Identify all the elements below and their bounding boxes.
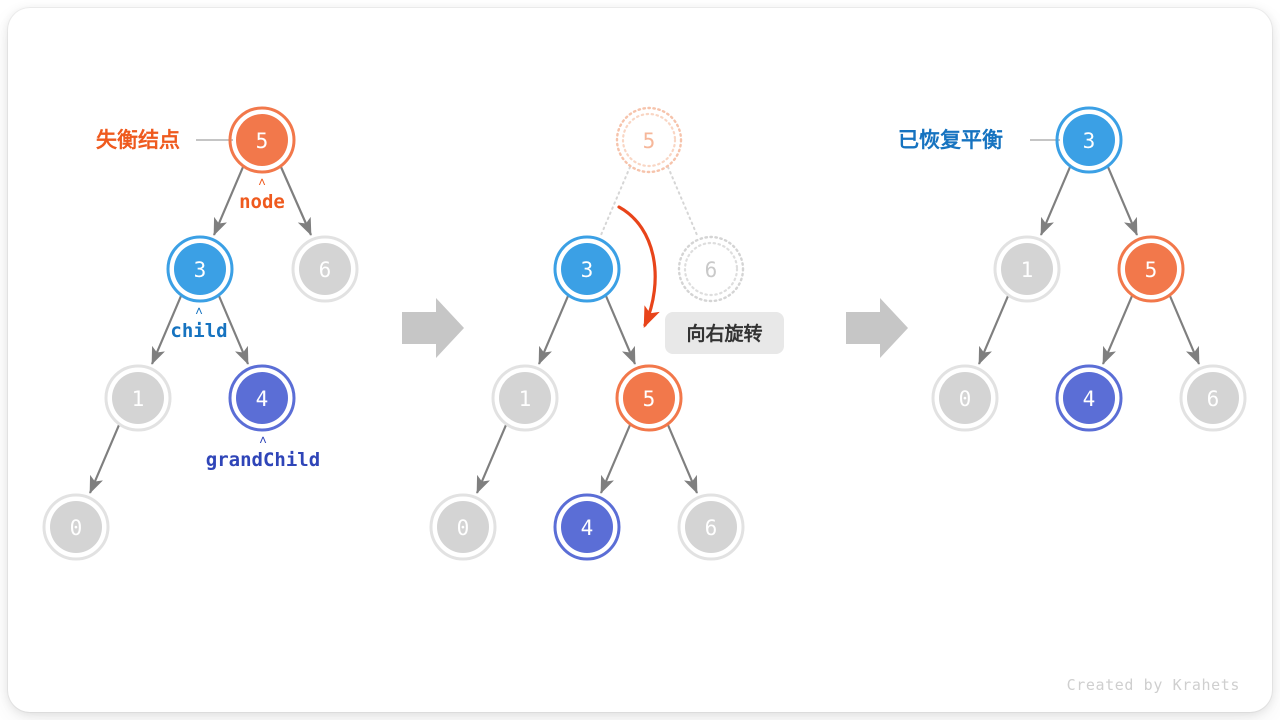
operation-chip: 向右旋转 xyxy=(665,312,784,354)
node-4-purple[interactable]: 4 xyxy=(230,366,294,430)
node-6-ghost: 6 xyxy=(679,237,743,301)
node-value: 0 xyxy=(457,516,470,540)
edge-ghost-5-6 xyxy=(668,167,697,235)
node-caret: ˄ xyxy=(258,176,266,191)
edge-1-0 xyxy=(90,425,119,493)
node-3-blue[interactable]: 3 xyxy=(168,237,232,301)
node-value: 3 xyxy=(194,258,207,282)
edge-3-1 xyxy=(1041,167,1070,235)
node-label: node xyxy=(239,191,285,213)
node-value: 6 xyxy=(705,516,718,540)
node-value: 5 xyxy=(1145,258,1158,282)
edges-ghost xyxy=(601,167,697,235)
panel-before: 5 3 6 1 4 xyxy=(44,108,357,559)
node-value: 4 xyxy=(1083,387,1096,411)
edge-1-0 xyxy=(477,425,506,493)
edge-3-5 xyxy=(606,296,635,364)
node-5-ghost: 5 xyxy=(617,108,681,172)
node-value: 4 xyxy=(256,387,269,411)
edge-3-5 xyxy=(1108,167,1137,235)
node-value: 5 xyxy=(256,129,269,153)
child-caret: ˄ xyxy=(195,305,203,320)
node-value: 5 xyxy=(643,129,656,153)
edge-5-6b xyxy=(668,425,697,493)
edge-5-6 xyxy=(1170,296,1199,364)
node-value: 5 xyxy=(643,387,656,411)
node-6-gray[interactable]: 6 xyxy=(679,495,743,559)
node-value: 6 xyxy=(319,258,332,282)
edge-5-6 xyxy=(281,167,311,235)
credit-text: Created by Krahets xyxy=(1067,676,1240,694)
node-5-orange[interactable]: 5 xyxy=(1119,237,1183,301)
step-arrow-2 xyxy=(846,298,908,358)
node-4-purple[interactable]: 4 xyxy=(1057,366,1121,430)
edge-ghost-5-3 xyxy=(601,167,630,235)
node-value: 6 xyxy=(1207,387,1220,411)
node-3-blue[interactable]: 3 xyxy=(555,237,619,301)
node-3-blue[interactable]: 3 xyxy=(1057,108,1121,172)
node-value: 3 xyxy=(1083,129,1096,153)
node-1-gray[interactable]: 1 xyxy=(995,237,1059,301)
edge-3-1 xyxy=(539,296,568,364)
node-value: 1 xyxy=(519,387,532,411)
node-0-gray[interactable]: 0 xyxy=(933,366,997,430)
node-0-gray[interactable]: 0 xyxy=(431,495,495,559)
edge-5-4 xyxy=(1103,296,1132,364)
node-0-gray[interactable]: 0 xyxy=(44,495,108,559)
node-value: 0 xyxy=(70,516,83,540)
step-arrow-1 xyxy=(402,298,464,358)
node-4-purple[interactable]: 4 xyxy=(555,495,619,559)
child-label: child xyxy=(170,320,227,342)
figure-canvas: 5 3 6 1 4 xyxy=(0,0,1280,720)
unbalanced-node-label: 失衡结点 xyxy=(96,128,180,152)
rebalanced-label: 已恢复平衡 xyxy=(898,128,1003,152)
grandchild-caret: ˄ xyxy=(259,434,267,449)
panel-after: 3 1 5 0 4 xyxy=(898,108,1245,430)
node-5-orange[interactable]: 5 xyxy=(230,108,294,172)
node-value: 4 xyxy=(581,516,594,540)
node-value: 1 xyxy=(132,387,145,411)
node-value: 6 xyxy=(705,258,718,282)
node-value: 3 xyxy=(581,258,594,282)
node-1-gray[interactable]: 1 xyxy=(493,366,557,430)
edge-1-0 xyxy=(979,296,1008,364)
node-6-gray[interactable]: 6 xyxy=(293,237,357,301)
tree-diagram: 5 3 6 1 4 xyxy=(0,0,1280,720)
panel-during: 5 6 3 1 5 xyxy=(431,108,784,559)
grandchild-label: grandChild xyxy=(206,449,320,471)
rotate-arrow xyxy=(619,207,655,325)
node-1-gray[interactable]: 1 xyxy=(106,366,170,430)
node-6-gray[interactable]: 6 xyxy=(1181,366,1245,430)
node-value: 1 xyxy=(1021,258,1034,282)
edge-5-4 xyxy=(601,425,630,493)
operation-label: 向右旋转 xyxy=(686,322,762,345)
node-5-orange[interactable]: 5 xyxy=(617,366,681,430)
node-value: 0 xyxy=(959,387,972,411)
